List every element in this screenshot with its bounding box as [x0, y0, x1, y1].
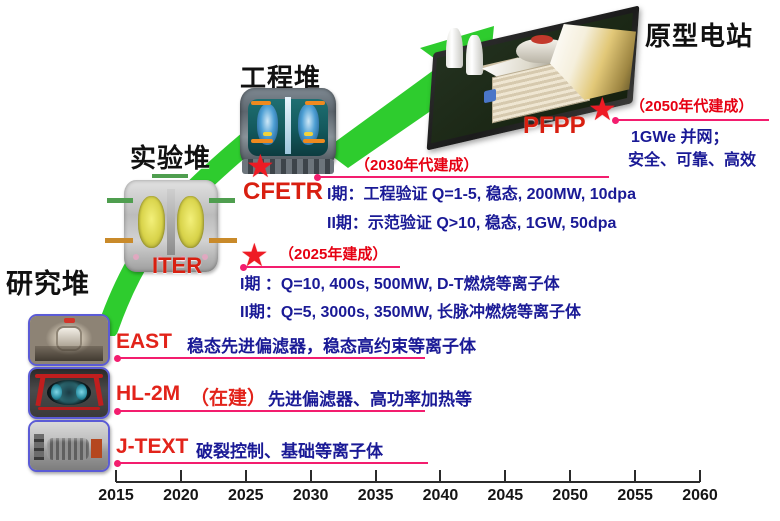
- stage-label-research: 研究堆: [6, 262, 90, 301]
- timeline-tick: [699, 470, 701, 482]
- thumbnail-east[interactable]: [28, 314, 110, 366]
- stage-label-power-plant: 原型电站: [645, 16, 753, 53]
- device-rule-jtext: [118, 462, 428, 464]
- timeline-tick: [310, 470, 312, 482]
- milestone-year-cfetr: （2030年代建成）: [355, 154, 478, 175]
- timeline-baseline: [116, 481, 700, 483]
- machine-name-pfpp: PFPP: [523, 112, 586, 140]
- device-name-jtext: J-TEXT: [116, 435, 188, 459]
- milestone-rule-pfpp: [617, 119, 769, 121]
- device-rule-east: [118, 357, 425, 359]
- device-desc-jtext: 破裂控制、基础等离子体: [196, 437, 383, 462]
- milestone-year-pfpp: （2050年代建成）: [630, 95, 753, 116]
- milestone-star-cfetr: ★: [246, 150, 275, 182]
- roadmap-diagram: 研究堆 实验堆 工程堆 原型电站 ITER CFETR: [0, 0, 780, 521]
- timeline-tick-label: 2030: [293, 487, 329, 505]
- device-name-hl2m: HL-2M: [116, 382, 180, 406]
- timeline-tick: [245, 470, 247, 482]
- cfetr-spec-1: I期：工程验证 Q=1-5, 稳态, 200MW, 10dpa: [327, 180, 636, 204]
- timeline-tick: [504, 470, 506, 482]
- timeline-tick-label: 2060: [682, 487, 718, 505]
- timeline-tick: [569, 470, 571, 482]
- timeline-tick: [439, 470, 441, 482]
- milestone-year-iter: （2025年建成）: [279, 243, 387, 264]
- iter-spec-1: I期 ：Q=10, 400s, 500MW, D-T燃烧等离子体: [240, 270, 560, 294]
- timeline-tick-label: 2015: [98, 487, 134, 505]
- milestone-rule-cfetr: [319, 176, 609, 178]
- stage-label-experiment: 实验堆: [130, 138, 211, 175]
- thumbnail-hl2m[interactable]: [28, 367, 110, 419]
- thumbnail-jtext[interactable]: [28, 420, 110, 472]
- iter-spec-2: II期：Q=5, 3000s, 350MW, 长脉冲燃烧等离子体: [240, 298, 581, 322]
- device-desc-hl2m: 先进偏滤器、高功率加热等: [268, 385, 472, 410]
- timeline-tick: [375, 470, 377, 482]
- timeline-tick: [180, 470, 182, 482]
- timeline-tick: [634, 470, 636, 482]
- pfpp-spec-2: 安全、可靠、高效: [628, 146, 756, 170]
- milestone-rule-iter: [245, 266, 400, 268]
- timeline-tick-label: 2050: [552, 487, 588, 505]
- device-note-hl2m: （在建）: [190, 383, 266, 410]
- timeline-tick-label: 2045: [488, 487, 524, 505]
- timeline-tick: [115, 470, 117, 482]
- timeline-tick-label: 2055: [617, 487, 653, 505]
- device-name-east: EAST: [116, 330, 172, 354]
- cfetr-spec-2: II期：示范验证 Q>10, 稳态, 1GW, 50dpa: [327, 209, 616, 233]
- timeline-tick-label: 2020: [163, 487, 199, 505]
- machine-name-iter: ITER: [152, 253, 202, 279]
- timeline-tick-label: 2040: [423, 487, 459, 505]
- timeline-tick-label: 2025: [228, 487, 264, 505]
- device-desc-east: 稳态先进偏滤器，稳态高约束等离子体: [187, 332, 476, 357]
- timeline-tick-label: 2035: [358, 487, 394, 505]
- pfpp-spec-1: 1GWe 并网；: [631, 123, 729, 147]
- device-rule-hl2m: [118, 410, 425, 412]
